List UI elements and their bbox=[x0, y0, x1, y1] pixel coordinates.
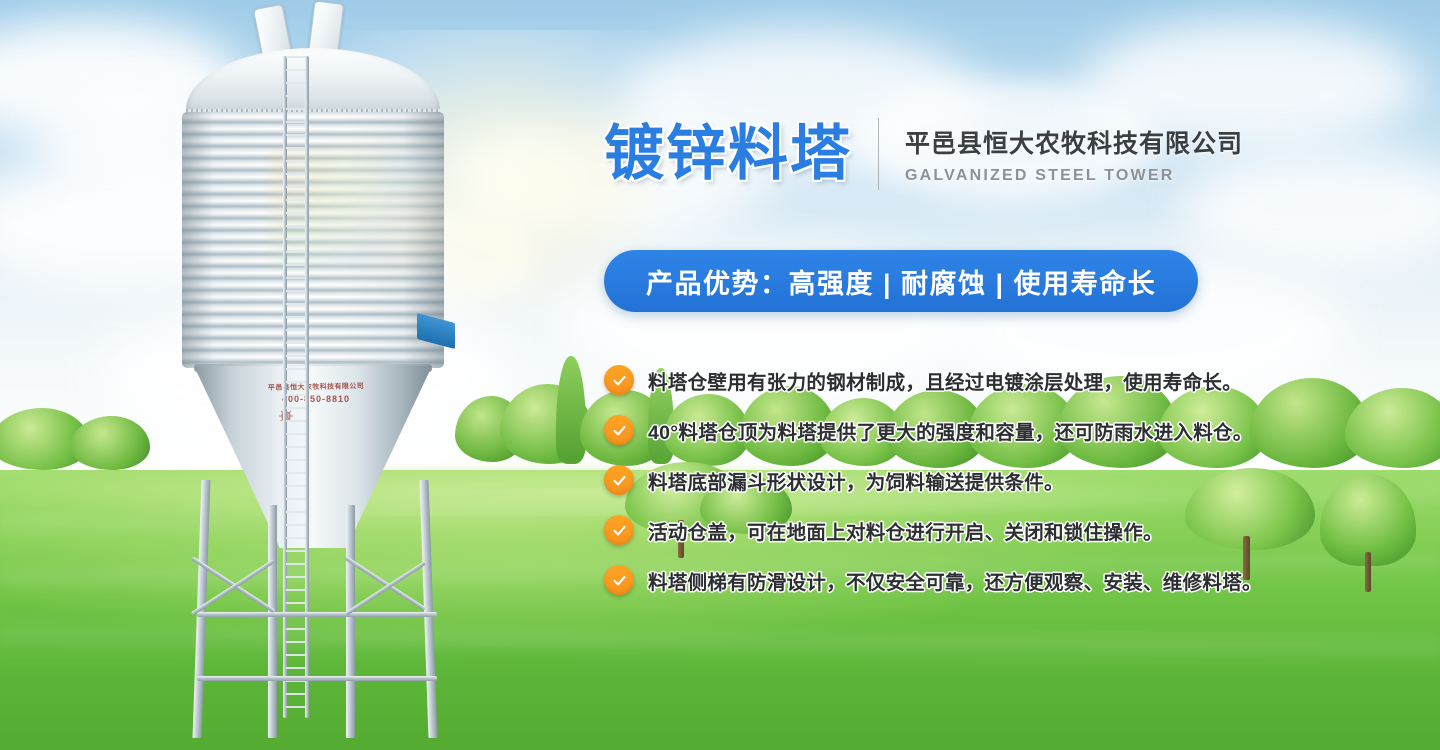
feature-text: 40°料塔仓顶为料塔提供了更大的强度和容量，还可防雨水进入料仓。 bbox=[648, 416, 1253, 445]
ladder-rungs bbox=[286, 56, 306, 718]
company-name-en: GALVANIZED STEEL TOWER bbox=[905, 167, 1243, 185]
feature-text: 料塔仓壁用有张力的钢材制成，且经过电镀涂层处理，使用寿命长。 bbox=[648, 366, 1242, 395]
advantage-pill-text: 产品优势：高强度 | 耐腐蚀 | 使用寿命长 bbox=[646, 262, 1156, 301]
feature-item: 料塔仓壁用有张力的钢材制成，且经过电镀涂层处理，使用寿命长。 bbox=[604, 355, 1440, 405]
check-circle-icon bbox=[604, 365, 634, 395]
feature-text: 料塔底部漏斗形状设计，为饲料输送提供条件。 bbox=[648, 466, 1064, 495]
feature-text: 料塔侧梯有防滑设计，不仅安全可靠，还方便观察、安装、维修料塔。 bbox=[648, 566, 1262, 595]
feature-list: 料塔仓壁用有张力的钢材制成，且经过电镀涂层处理，使用寿命长。40°料塔仓顶为料塔… bbox=[604, 355, 1440, 605]
hero-banner: 平邑县恒大农牧科技有限公司 400-850-8810 镀锌料塔 平邑县恒大农牧科… bbox=[0, 0, 1440, 750]
company-block: 平邑县恒大农牧科技有限公司 GALVANIZED STEEL TOWER bbox=[905, 124, 1243, 185]
leg-cross-brace bbox=[345, 561, 426, 616]
check-circle-icon bbox=[604, 565, 634, 595]
leg-brace bbox=[197, 612, 437, 617]
check-circle-icon bbox=[604, 415, 634, 445]
galvanized-feed-silo-image: 平邑县恒大农牧科技有限公司 400-850-8810 bbox=[150, 0, 510, 750]
advantage-pill: 产品优势：高强度 | 耐腐蚀 | 使用寿命长 bbox=[604, 250, 1198, 312]
check-circle-icon bbox=[604, 515, 634, 545]
feature-item: 活动仓盖，可在地面上对料仓进行开启、关闭和锁住操作。 bbox=[604, 505, 1440, 555]
page-title: 镀锌料塔 bbox=[604, 124, 852, 184]
headline-row: 镀锌料塔 平邑县恒大农牧科技有限公司 GALVANIZED STEEL TOWE… bbox=[604, 118, 1243, 190]
tree-cypress bbox=[556, 356, 586, 464]
title-divider bbox=[878, 118, 879, 190]
support-leg bbox=[346, 505, 355, 738]
silo-phone-text: 400-850-8810 bbox=[246, 394, 386, 404]
feature-item: 40°料塔仓顶为料塔提供了更大的强度和容量，还可防雨水进入料仓。 bbox=[604, 405, 1440, 455]
check-circle-icon bbox=[604, 465, 634, 495]
feature-item: 料塔底部漏斗形状设计，为饲料输送提供条件。 bbox=[604, 455, 1440, 505]
support-leg bbox=[268, 505, 277, 738]
feature-text: 活动仓盖，可在地面上对料仓进行开启、关闭和锁住操作。 bbox=[648, 516, 1163, 545]
silo-barrel bbox=[182, 112, 444, 368]
company-name-cn: 平邑县恒大农牧科技有限公司 bbox=[905, 124, 1243, 160]
banner-copy: 镀锌料塔 平邑县恒大农牧科技有限公司 GALVANIZED STEEL TOWE… bbox=[604, 0, 1440, 750]
feature-item: 料塔侧梯有防滑设计，不仅安全可靠，还方便观察、安装、维修料塔。 bbox=[604, 555, 1440, 605]
silo-roof bbox=[186, 48, 440, 120]
silo-side-ladder bbox=[283, 56, 309, 718]
leg-brace bbox=[197, 676, 437, 681]
leg-cross-brace bbox=[345, 556, 426, 611]
